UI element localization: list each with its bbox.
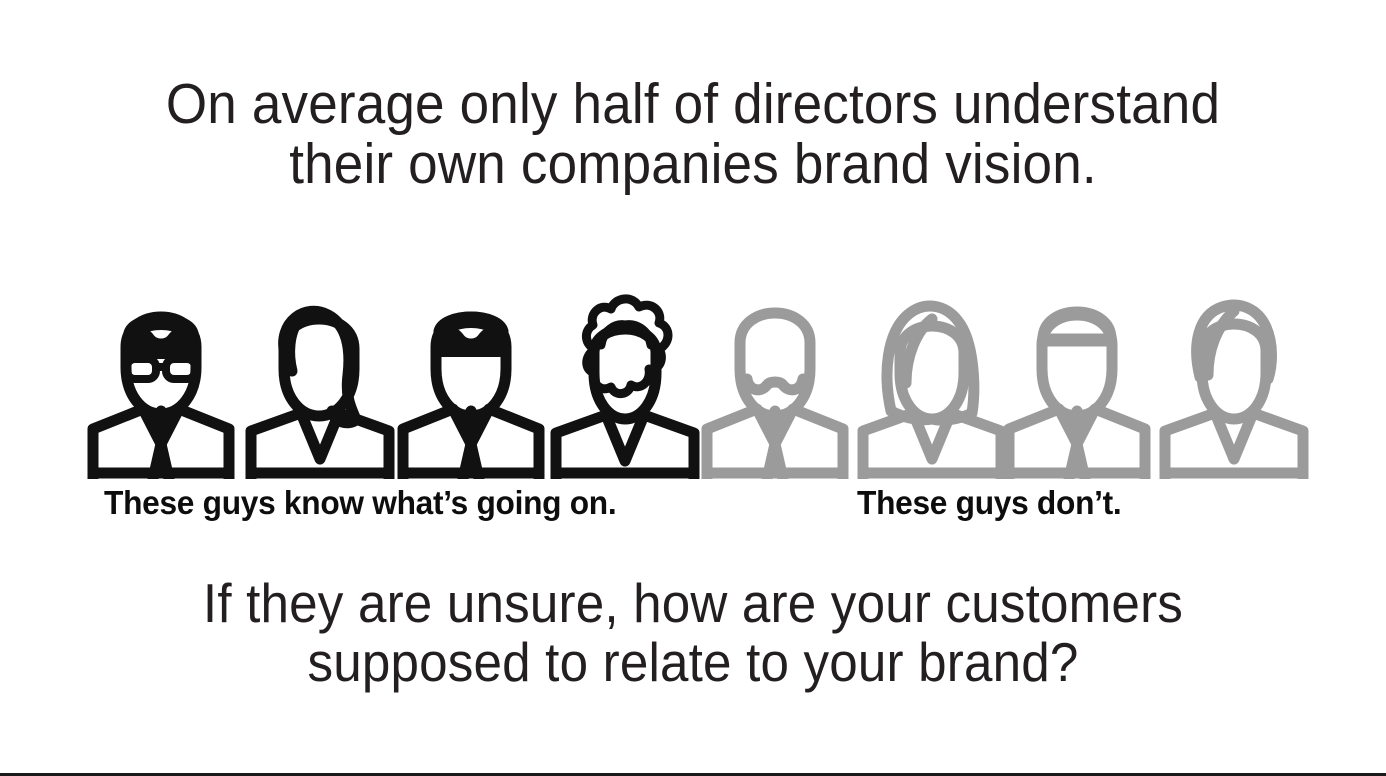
headline-line-2: their own companies brand vision. xyxy=(49,134,1338,194)
figure-woman-long-hair-icon xyxy=(244,283,396,479)
question-line-2: supposed to relate to your brand? xyxy=(49,633,1338,692)
figure-man-flat-fringe-icon xyxy=(1001,283,1153,479)
headline-line-1: On average only half of directors unders… xyxy=(49,74,1338,134)
figure-woman-long-straight-hair-icon xyxy=(856,283,1008,479)
figure-man-with-glasses-icon xyxy=(85,283,237,479)
figure-man-short-hair-icon xyxy=(395,283,547,479)
caption-informed: These guys know what’s going on. xyxy=(104,484,616,522)
question-line-1: If they are unsure, how are your custome… xyxy=(49,574,1338,633)
closing-question: If they are unsure, how are your custome… xyxy=(49,574,1338,692)
caption-uninformed: These guys don’t. xyxy=(857,484,1121,522)
figure-person-curly-hair-icon xyxy=(549,283,701,479)
slide-canvas: On average only half of directors unders… xyxy=(0,0,1386,776)
figure-row xyxy=(85,283,1310,479)
figure-man-with-mustache-icon xyxy=(699,283,851,479)
page-title: On average only half of directors unders… xyxy=(49,74,1338,194)
figure-woman-bob-hair-icon xyxy=(1158,283,1310,479)
